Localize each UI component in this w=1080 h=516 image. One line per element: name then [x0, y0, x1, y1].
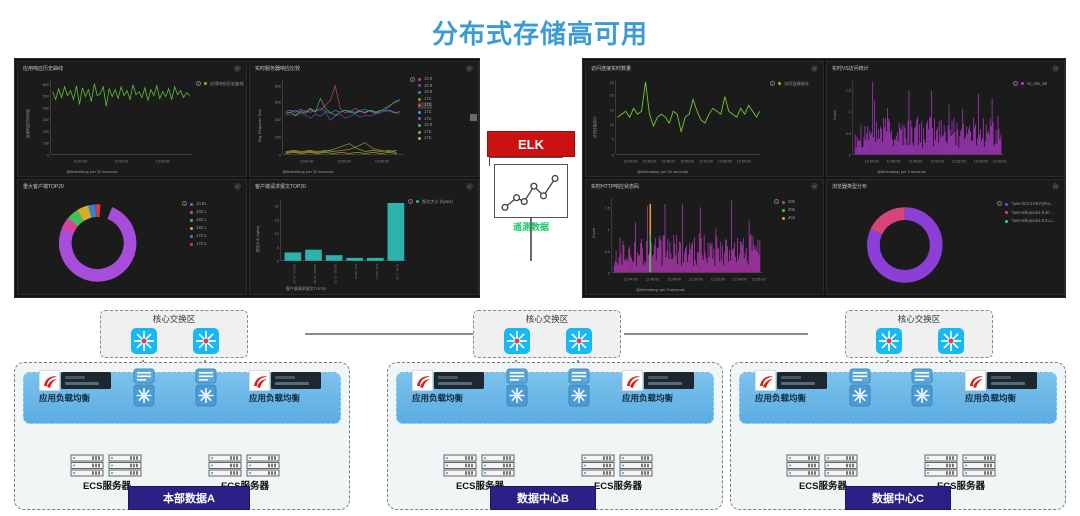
svg-text:0: 0	[849, 153, 851, 157]
switch-icon[interactable]	[131, 328, 157, 354]
line-chart-icon	[494, 164, 568, 218]
legend-item: 10.9	[418, 76, 432, 83]
panel-legend: i 应用响应历史曲线	[204, 80, 244, 88]
svg-text:10.91 : 1.18: 10.91 : 1.18	[395, 264, 399, 281]
load-balancer-icon	[755, 370, 776, 391]
legend-swatch	[782, 217, 785, 220]
panel-title: 浏览器类型分布	[832, 183, 867, 190]
load-balancer-left[interactable]: 应用负载均衡	[755, 369, 831, 409]
core-zone-title: 核心交换区	[101, 313, 247, 325]
load-balancer-left[interactable]: 应用负载均衡	[39, 369, 115, 409]
plot-area: 0200400600800 12:40:0012:50:0013:00:00	[250, 74, 478, 176]
datacenter-c-tag: 数据中心C	[845, 486, 951, 510]
svg-text:0.5: 0.5	[605, 250, 610, 254]
svg-text:0: 0	[608, 271, 610, 275]
y-axis-label: Count	[592, 228, 596, 238]
plot-area: 05101520 192.16 : 21.27 192.16 : 21.26 1…	[250, 192, 478, 294]
legend-label: 10.9	[424, 89, 432, 96]
legend-swatch	[416, 200, 419, 203]
core-zone-title: 核心交换区	[846, 313, 992, 325]
legend-label: vs_site_80	[1027, 80, 1047, 88]
server-device-icon	[271, 372, 321, 389]
question-circle-icon[interactable]: i	[410, 77, 415, 82]
server-device-icon	[644, 372, 694, 389]
router-switch-icon[interactable]	[194, 368, 218, 408]
svg-text:1: 1	[849, 110, 851, 114]
legend-item: 172.2	[190, 232, 206, 240]
panel-title: 重大客户端TOP20	[23, 183, 64, 190]
svg-text:400: 400	[43, 106, 49, 110]
legend-swatch	[418, 137, 421, 140]
svg-text:1.5: 1.5	[846, 89, 851, 93]
legend-label: 报文大小 (bytes)	[422, 198, 453, 206]
legend-label: 172.	[424, 116, 432, 123]
legend-item: 报文大小 (bytes)	[416, 198, 453, 206]
server-rack-icon	[786, 454, 820, 478]
svg-text:12:50:00: 12:50:00	[680, 159, 694, 163]
datacenter-b-tag: 数据中心B	[490, 486, 596, 510]
panel-realtime-http-status-codes[interactable]: 实时HTTP响应状态码 00.511.5 12:44:0012:46:0012:…	[585, 179, 824, 295]
load-balancer-label: 应用负载均衡	[622, 392, 698, 404]
panel-legend: i 10.9 10.9 10.9 172. 172. 172. 172. 10.…	[418, 76, 432, 142]
svg-text:200: 200	[43, 130, 49, 134]
gear-icon[interactable]	[1052, 65, 1059, 72]
panel-legend: i 报文大小 (bytes)	[416, 198, 453, 206]
elk-badge[interactable]: ELK	[487, 131, 575, 157]
load-balancer-icon	[965, 370, 986, 391]
core-zone-right: 核心交换区	[845, 310, 993, 358]
svg-text:13:00:00: 13:00:00	[375, 159, 389, 163]
svg-text:12:52:00: 12:52:00	[699, 159, 713, 163]
legend-swatch	[778, 82, 781, 85]
legend-swatch	[190, 211, 193, 214]
svg-text:20: 20	[275, 205, 279, 209]
legend-item: 192.1	[190, 208, 206, 216]
legend-item: 172.	[418, 135, 432, 142]
svg-text:12:44:00: 12:44:00	[865, 159, 879, 163]
load-balancer-right[interactable]: 应用负载均衡	[622, 369, 698, 409]
legend-label: 应用响应历史曲线	[210, 80, 244, 88]
server-rack-icon	[924, 454, 958, 478]
legend-label: 192.1	[196, 208, 206, 216]
legend-swatch	[418, 91, 421, 94]
x-axis-label: @timestamp per 5 seconds	[542, 287, 779, 292]
legend-item: 192.1	[190, 224, 206, 232]
server-rack-icon	[619, 454, 653, 478]
router-switch-icon[interactable]	[132, 368, 156, 408]
gear-icon[interactable]	[1052, 183, 1059, 190]
svg-text:0: 0	[277, 260, 279, 264]
y-axis-label: Avg. Response Time	[258, 109, 262, 142]
svg-text:600: 600	[43, 83, 49, 87]
legend-swatch	[418, 104, 421, 107]
x-axis-label: @timestamp per 30 seconds	[194, 169, 422, 174]
svg-text:13:00:00: 13:00:00	[156, 159, 170, 163]
legend-swatch	[204, 82, 207, 85]
legend-label: 172.	[424, 135, 432, 142]
svg-text:1: 1	[608, 228, 610, 232]
question-circle-icon[interactable]: i	[1013, 81, 1018, 86]
svg-text:12:48:00: 12:48:00	[661, 159, 675, 163]
panel-resize-handle[interactable]	[470, 114, 477, 121]
svg-text:500: 500	[43, 95, 49, 99]
svg-text:12:50:00: 12:50:00	[689, 277, 703, 281]
legend-label: 172.2	[196, 232, 206, 240]
svg-text:12:48:00: 12:48:00	[667, 277, 681, 281]
svg-text:12:56:00: 12:56:00	[993, 159, 1007, 163]
panel-title: 实时服务器响应比较	[255, 65, 300, 72]
switch-icon[interactable]	[566, 328, 592, 354]
panel-title: 客户端请求报文TOP20	[255, 183, 306, 190]
svg-text:0: 0	[279, 153, 281, 157]
legend-item: 10.9	[418, 83, 432, 90]
question-circle-icon[interactable]: i	[770, 81, 775, 86]
legend-item: 200	[782, 198, 795, 206]
panel-browser-type-distribution[interactable]: 浏览器类型分布 i "aws-cli/2.0.59 Pytho... "aws-…	[826, 179, 1065, 295]
server-rack-icon	[481, 454, 515, 478]
svg-text:10: 10	[610, 123, 614, 127]
svg-text:12:52:00: 12:52:00	[952, 159, 966, 163]
plot-area: 0100200 300400500600 12:40:0012:50:0013:…	[18, 74, 246, 176]
svg-text:12:44:00: 12:44:00	[624, 159, 638, 163]
load-balancer-label: 应用负载均衡	[249, 392, 325, 404]
server-rack-icon	[443, 454, 477, 478]
server-rack-icon	[108, 454, 142, 478]
legend-item: 10.9	[418, 122, 432, 129]
svg-text:12:44:00: 12:44:00	[624, 277, 638, 281]
legend-label: 10.9	[424, 122, 432, 129]
svg-text:400: 400	[275, 118, 281, 122]
legend-label: 200	[788, 198, 795, 206]
switch-icon[interactable]	[938, 328, 964, 354]
gear-icon[interactable]	[234, 183, 241, 190]
svg-text:12:50:00: 12:50:00	[114, 159, 128, 163]
y-axis-label: Count	[833, 110, 837, 120]
svg-text:12:54:00: 12:54:00	[733, 277, 747, 281]
legend-item: 172.	[418, 116, 432, 123]
ecs-group-right[interactable]: ECS服务器	[208, 454, 282, 490]
page-title: 分布式存储高可用	[0, 14, 1080, 51]
x-axis-label: @timestamp per 30 seconds	[544, 169, 781, 174]
load-balancer-right[interactable]: 应用负载均衡	[249, 369, 325, 409]
load-balancer-icon	[622, 370, 643, 391]
plot-area: 00.511.5 12:44:0012:46:0012:48:00 12:50:…	[827, 74, 1064, 176]
y-axis-label: 应用响应时间均值	[26, 109, 31, 138]
gear-icon[interactable]	[466, 65, 473, 72]
panel-title: 应用响应历史曲线	[23, 65, 63, 72]
legend-swatch	[782, 201, 785, 204]
switch-icon[interactable]	[193, 328, 219, 354]
server-rack-icon	[581, 454, 615, 478]
question-circle-icon[interactable]: i	[774, 199, 779, 204]
core-zone-center: 核心交换区	[473, 310, 621, 358]
plot-area	[18, 192, 246, 294]
server-rack-icon	[246, 454, 280, 478]
datacenter-a-tag: 本部数据A	[128, 486, 250, 510]
svg-text:800: 800	[275, 85, 281, 89]
router-switch-icon[interactable]	[567, 368, 591, 408]
gear-icon[interactable]	[234, 65, 241, 72]
server-rack-icon	[208, 454, 242, 478]
svg-text:12:46:00: 12:46:00	[643, 159, 657, 163]
legend-swatch	[418, 124, 421, 127]
server-rack-icon	[962, 454, 996, 478]
svg-text:12:50:00: 12:50:00	[337, 159, 351, 163]
y-axis-label: 报文大小 (bytes)	[256, 226, 261, 252]
load-balancer-icon	[39, 370, 60, 391]
legend-label: 访问连接统计	[784, 80, 809, 88]
svg-text:20: 20	[610, 94, 614, 98]
gear-icon[interactable]	[811, 65, 818, 72]
panel-legend: i 访问连接统计	[778, 80, 809, 88]
legend-label: 172.	[424, 109, 432, 116]
svg-text:1.5: 1.5	[605, 207, 610, 211]
legend-label: 172.	[424, 102, 432, 109]
panel-legend: i 10.91 192.1 192.1 192.1 172.2 172.2	[190, 200, 206, 248]
dashboard-right: 访问连接实时数量 0510152025 12:44:0012:46:0012:4…	[582, 58, 1066, 298]
legend-swatch	[190, 203, 193, 206]
svg-text:12:56:00: 12:56:00	[752, 277, 766, 281]
svg-text:15: 15	[275, 218, 279, 222]
legend-swatch	[1005, 203, 1008, 206]
legend-item: 172.2	[190, 240, 206, 248]
load-balancer-label: 应用负载均衡	[965, 392, 1041, 404]
svg-text:12:48:00: 12:48:00	[908, 159, 922, 163]
load-balancer-right[interactable]: 应用负载均衡	[965, 369, 1041, 409]
legend-item: "aws-sdk-java/1.9.40 ...	[1005, 209, 1055, 218]
svg-text:192.16 : 21.25: 192.16 : 21.25	[334, 264, 338, 284]
panel-title: 实时VS访问统计	[832, 65, 869, 72]
router-switch-icon[interactable]	[910, 368, 934, 408]
legend-label: "aws-sdk-java/1.9.40 ...	[1011, 209, 1054, 218]
switch-icon[interactable]	[876, 328, 902, 354]
panel-title: 访问连接实时数量	[591, 65, 631, 72]
legend-swatch	[1021, 82, 1024, 85]
svg-text:12:46:00: 12:46:00	[645, 277, 659, 281]
question-circle-icon[interactable]: i	[408, 199, 413, 204]
panel-access-connection-count[interactable]: 访问连接实时数量 0510152025 12:44:0012:46:0012:4…	[585, 61, 824, 177]
svg-text:0.5: 0.5	[846, 132, 851, 136]
svg-text:12:40:00: 12:40:00	[300, 159, 314, 163]
svg-text:12:50:00: 12:50:00	[930, 159, 944, 163]
svg-text:15: 15	[610, 108, 614, 112]
svg-text:192.16 : 21.26: 192.16 : 21.26	[313, 264, 317, 284]
svg-text:192.16 : 21.27: 192.16 : 21.27	[292, 264, 296, 284]
legend-item: vs_site_80	[1021, 80, 1047, 88]
question-circle-icon[interactable]: i	[196, 81, 201, 86]
legend-swatch	[190, 243, 193, 246]
legend-swatch	[418, 98, 421, 101]
legend-item: 10.91	[190, 200, 206, 208]
svg-text:12:54:00: 12:54:00	[718, 159, 732, 163]
panel-heavy-client-top20[interactable]: 重大客户端TOP20 i 10.91 192.1 192.1 192.1	[17, 179, 247, 295]
legend-swatch	[418, 117, 421, 120]
ecs-group-left[interactable]: ECS服务器	[70, 454, 144, 490]
load-balancer-icon	[249, 370, 270, 391]
switch-icon[interactable]	[504, 328, 530, 354]
legend-item: 172.	[418, 109, 432, 116]
question-circle-icon[interactable]: i	[997, 201, 1002, 206]
legend-item: 206	[782, 206, 795, 214]
svg-text:100: 100	[43, 142, 49, 146]
panel-title: 实时HTTP响应状态码	[591, 183, 639, 190]
legend-swatch	[190, 227, 193, 230]
panel-realtime-server-response-compare[interactable]: 实时服务器响应比较 0200400600800 12:40:0012:50:00…	[249, 61, 479, 177]
legend-label: 172.2	[196, 240, 206, 248]
router-switch-icon[interactable]	[848, 368, 872, 408]
legend-label: 10.9	[424, 76, 432, 83]
elk-stem-line	[530, 218, 532, 261]
legend-label: 172.	[424, 96, 432, 103]
ecs-group-left[interactable]: ECS服务器	[443, 454, 517, 490]
legend-swatch	[418, 111, 421, 114]
x-axis-label: @timestamp per 5 seconds	[783, 169, 1020, 174]
svg-text:0: 0	[612, 153, 614, 157]
gear-icon[interactable]	[466, 183, 473, 190]
legend-item: 172.	[418, 102, 432, 109]
legend-swatch	[418, 131, 421, 134]
legend-item: 172.	[418, 96, 432, 103]
elk-group: ELK 遥测数据	[487, 131, 575, 261]
ecs-group-left[interactable]: ECS服务器	[786, 454, 860, 490]
legend-label: 10.9	[424, 83, 432, 90]
y-axis-label: 访问连接统计	[593, 116, 598, 138]
legend-swatch	[190, 219, 193, 222]
svg-text:300: 300	[43, 118, 49, 122]
legend-item: 应用响应历史曲线	[204, 80, 244, 88]
svg-text:0: 0	[47, 153, 49, 157]
legend-swatch	[418, 78, 421, 81]
plot-area: 0510152025 12:44:0012:46:0012:48:00 12:5…	[586, 74, 823, 176]
x-axis-label: @timestamp per 30 seconds	[0, 169, 206, 174]
svg-text:12:40:00: 12:40:00	[74, 159, 88, 163]
legend-item: 192.1	[190, 216, 206, 224]
svg-text:12:46:00: 12:46:00	[886, 159, 900, 163]
legend-label: 404	[788, 214, 795, 222]
network-diagram: 核心交换区 核心交换区 核心交换区	[0, 300, 1080, 516]
legend-swatch	[1005, 220, 1008, 223]
svg-text:600: 600	[275, 100, 281, 104]
legend-swatch	[1005, 211, 1008, 214]
core-zone-title: 核心交换区	[474, 313, 620, 325]
panel-legend: i "aws-cli/2.0.59 Pytho... "aws-sdk-java…	[1005, 200, 1055, 226]
panel-legend: i 200 206 404	[782, 198, 795, 222]
legend-label: "aws-cli/2.0.59 Pytho...	[1011, 200, 1053, 209]
server-rack-icon	[824, 454, 858, 478]
server-device-icon	[434, 372, 484, 389]
svg-text:10: 10	[275, 232, 279, 236]
svg-text:200: 200	[275, 136, 281, 140]
legend-swatch	[418, 84, 421, 87]
svg-text:12:56:00: 12:56:00	[737, 159, 751, 163]
svg-text:12:52:00: 12:52:00	[711, 277, 725, 281]
load-balancer-label: 应用负载均衡	[39, 392, 115, 404]
legend-item: "aws-sdk-java/1.9.0 Li...	[1005, 217, 1055, 226]
load-balancer-label: 应用负载均衡	[412, 392, 488, 404]
gear-icon[interactable]	[811, 183, 818, 190]
svg-text:172 : 267.5: 172 : 267.5	[375, 264, 379, 280]
core-zone-left: 核心交换区	[100, 310, 248, 358]
panel-client-request-bytes-top20[interactable]: 客户端请求报文TOP20 05101520	[249, 179, 479, 295]
svg-text:25: 25	[610, 81, 614, 85]
load-balancer-icon	[412, 370, 433, 391]
ecs-group-right[interactable]: ECS服务器	[581, 454, 655, 490]
legend-label: 192.1	[196, 216, 206, 224]
legend-label: 10.91	[196, 200, 206, 208]
legend-item: 访问连接统计	[778, 80, 809, 88]
dashboard-left: 应用响应历史曲线 0100200 300400500600 12:40:0012…	[14, 58, 480, 298]
svg-text:12:54:00: 12:54:00	[974, 159, 988, 163]
router-switch-icon[interactable]	[505, 368, 529, 408]
legend-swatch	[782, 209, 785, 212]
server-device-icon	[777, 372, 827, 389]
load-balancer-left[interactable]: 应用负载均衡	[412, 369, 488, 409]
svg-text:5: 5	[612, 138, 614, 142]
question-circle-icon[interactable]: i	[182, 201, 187, 206]
legend-swatch	[190, 235, 193, 238]
panel-legend: i vs_site_80	[1021, 80, 1047, 88]
panel-realtime-vs-access-stats[interactable]: 实时VS访问统计 00.511.5 12:44:0012:46:0012:48:…	[826, 61, 1065, 177]
ecs-group-right[interactable]: ECS服务器	[924, 454, 998, 490]
load-balancer-label: 应用负载均衡	[755, 392, 831, 404]
svg-text:172 : 267.8: 172 : 267.8	[354, 264, 358, 280]
legend-label: 206	[788, 206, 795, 214]
legend-item: "aws-cli/2.0.59 Pytho...	[1005, 200, 1055, 209]
x-axis-label: 客户端请求报文TOP20	[192, 286, 420, 292]
legend-label: 172.	[424, 129, 432, 136]
server-device-icon	[987, 372, 1037, 389]
server-rack-icon	[70, 454, 104, 478]
legend-item: 404	[782, 214, 795, 222]
legend-label: 192.1	[196, 224, 206, 232]
svg-text:5: 5	[277, 246, 279, 250]
server-device-icon	[61, 372, 111, 389]
panel-app-response-curve[interactable]: 应用响应历史曲线 0100200 300400500600 12:40:0012…	[17, 61, 247, 177]
legend-item: 10.9	[418, 89, 432, 96]
legend-item: 172.	[418, 129, 432, 136]
legend-label: "aws-sdk-java/1.9.0 Li...	[1011, 217, 1055, 226]
